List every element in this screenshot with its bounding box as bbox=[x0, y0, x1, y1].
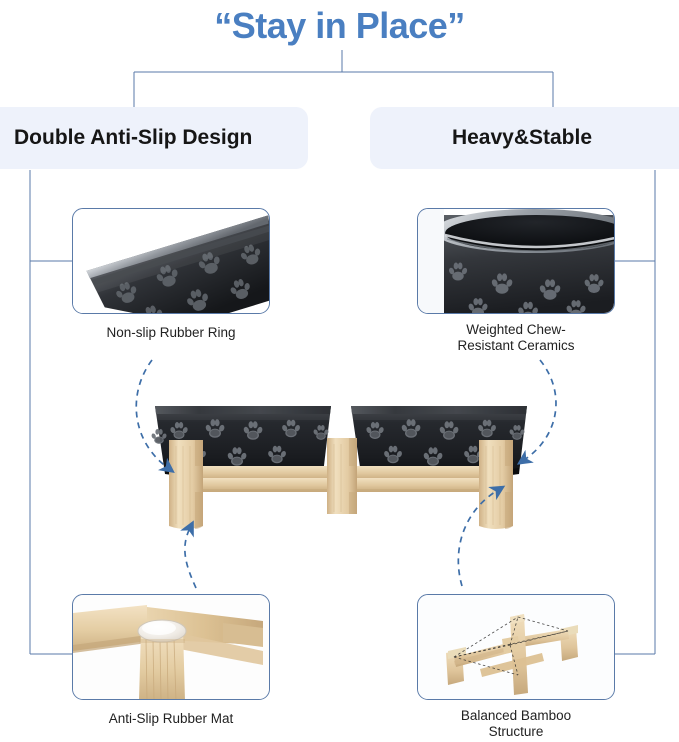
page-title: “Stay in Place” bbox=[0, 0, 679, 52]
category-label: Heavy&Stable bbox=[452, 126, 592, 150]
caption-line-1: Balanced Bamboo bbox=[405, 708, 627, 724]
caption-line-2: Structure bbox=[405, 724, 627, 740]
caption-line-1: Weighted Chew- bbox=[405, 322, 627, 338]
feature-thumbnail-anti-slip-rubber-mat bbox=[72, 594, 270, 700]
caption-line-2: Resistant Ceramics bbox=[405, 338, 627, 354]
feature-thumbnail-non-slip-rubber-ring bbox=[72, 208, 270, 314]
bamboo-stand-structure-image bbox=[418, 595, 614, 699]
category-box-heavy-stable: Heavy&Stable bbox=[370, 107, 679, 169]
bamboo-leg-rubber-pad-image bbox=[73, 595, 269, 699]
category-box-double-anti-slip-design: Double Anti-Slip Design bbox=[0, 107, 308, 169]
feature-caption-balanced-bamboo-structure: Balanced Bamboo Structure bbox=[405, 708, 627, 740]
bowl-interior-closeup-image bbox=[418, 209, 614, 313]
feature-thumbnail-weighted-chew-resistant-ceramics bbox=[417, 208, 615, 314]
feature-thumbnail-balanced-bamboo-structure bbox=[417, 594, 615, 700]
feature-caption-non-slip-rubber-ring: Non-slip Rubber Ring bbox=[60, 325, 282, 341]
product-image-elevated-double-dog-bowls bbox=[145, 388, 537, 538]
bowl-rim-paw-print-closeup-image bbox=[73, 209, 269, 313]
feature-caption-weighted-chew-resistant-ceramics: Weighted Chew- Resistant Ceramics bbox=[405, 322, 627, 354]
product-infographic: “Stay in Place” Double Anti-Slip Design … bbox=[0, 0, 679, 742]
feature-caption-anti-slip-rubber-mat: Anti-Slip Rubber Mat bbox=[60, 711, 282, 727]
category-label: Double Anti-Slip Design bbox=[14, 126, 252, 150]
